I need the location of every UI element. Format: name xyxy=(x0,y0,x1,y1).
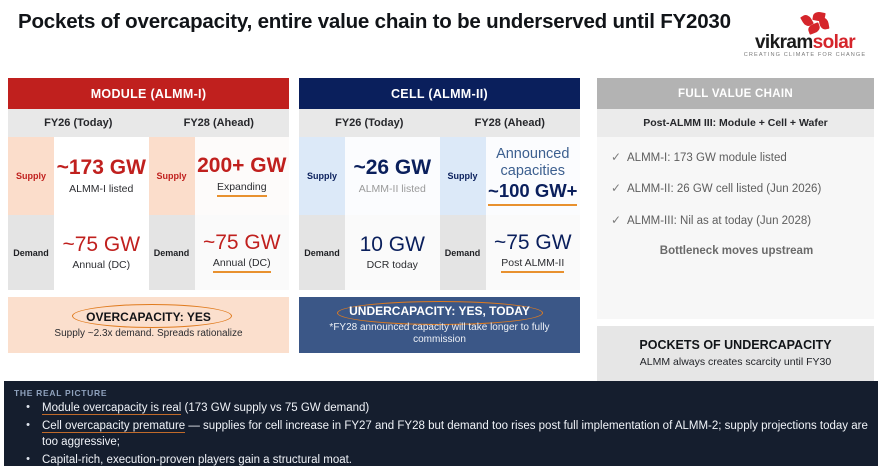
cell-col-fy26-header: FY26 (Today) xyxy=(299,117,440,129)
cell-fy28-supply-value: ~100 GW+ xyxy=(488,180,577,206)
module-fy28-supply-value: 200+ GW xyxy=(197,155,286,177)
cell-fy26-supply-value: ~26 GW xyxy=(353,157,431,179)
fvc-verdict-box: POCKETS OF UNDERCAPACITY ALMM always cre… xyxy=(597,326,874,382)
module-fy28-demand-note: Annual (DC) xyxy=(213,257,271,273)
cell-fy26-demand-value-cell: 10 GW DCR today xyxy=(345,215,440,290)
module-fy26-demand-value: ~75 GW xyxy=(62,234,140,256)
bullet-icon: • xyxy=(14,418,42,434)
pinwheel-icon xyxy=(800,12,830,34)
module-fy28-supply-row: Supply 200+ GW Expanding xyxy=(149,137,290,215)
fvc-item-text: ALMM-III: Nil as at today (Jun 2028) xyxy=(627,214,811,228)
bottom-section-label: THE REAL PICTURE xyxy=(14,388,868,398)
cell-fy26-supply-note: ALMM-II listed xyxy=(359,183,426,195)
bullet-icon: • xyxy=(14,400,42,416)
fvc-subhead-text: Post-ALMM III: Module + Cell + Wafer xyxy=(597,117,874,129)
fvc-verdict-sub: ALMM always creates scarcity until FY30 xyxy=(640,356,831,369)
module-fy28-demand-row: Demand ~75 GW Annual (DC) xyxy=(149,215,290,290)
cell-fy28-demand-note: Post ALMM-II xyxy=(501,257,564,273)
module-verdict-title: OVERCAPACITY: YES xyxy=(86,310,211,324)
module-fy26-supply-note: ALMM-I listed xyxy=(69,183,133,195)
logo-tagline: CREATING CLIMATE FOR CHANGE xyxy=(742,52,868,58)
module-grid: Supply ~173 GW ALMM-I listed Demand ~75 … xyxy=(8,137,289,290)
module-col-fy26-header: FY26 (Today) xyxy=(8,117,149,129)
module-fy26-column: Supply ~173 GW ALMM-I listed Demand ~75 … xyxy=(8,137,149,290)
page-title: Pockets of overcapacity, entire value ch… xyxy=(18,8,738,35)
panel-cell-header: CELL (ALMM-II) xyxy=(299,78,580,109)
cell-fy26-supply-value-cell: ~26 GW ALMM-II listed xyxy=(345,137,440,215)
cell-fy28-supply-row: Supply Announced capacities ~100 GW+ xyxy=(440,137,581,215)
fvc-note: Bottleneck moves upstream xyxy=(611,245,862,257)
vikram-solar-logo: vikramsolar CREATING CLIMATE FOR CHANGE xyxy=(742,12,868,62)
cell-fy26-supply-label: Supply xyxy=(299,137,345,215)
cell-fy28-supply-value-cell: Announced capacities ~100 GW+ xyxy=(486,137,581,215)
list-item: • Capital-rich, execution-proven players… xyxy=(14,452,868,469)
cell-fy28-column: Supply Announced capacities ~100 GW+ Dem… xyxy=(440,137,581,290)
cell-fy28-supply-line2: capacities xyxy=(501,163,565,179)
cell-verdict-box: UNDERCAPACITY: YES, TODAY *FY28 announce… xyxy=(299,297,580,353)
cell-fy28-supply-label: Supply xyxy=(440,137,486,215)
cell-fy26-demand-value: 10 GW xyxy=(360,234,425,256)
cell-fy28-demand-row: Demand ~75 GW Post ALMM-II xyxy=(440,215,581,290)
cell-fy26-demand-label: Demand xyxy=(299,215,345,290)
panel-full-value-chain: FULL VALUE CHAIN Post-ALMM III: Module +… xyxy=(597,78,874,382)
the-real-picture-bar: THE REAL PICTURE • Module overcapacity i… xyxy=(4,381,878,466)
slide-header: Pockets of overcapacity, entire value ch… xyxy=(0,0,882,72)
module-verdict-box: OVERCAPACITY: YES Supply ~2.3x demand. S… xyxy=(8,297,289,353)
cell-fy28-demand-label: Demand xyxy=(440,215,486,290)
logo-word-vikram: vikram xyxy=(755,32,813,53)
module-fy28-supply-note: Expanding xyxy=(217,181,267,197)
bullet-text: Cell overcapacity premature — supplies f… xyxy=(42,418,868,451)
module-fy26-supply-value-cell: ~173 GW ALMM-I listed xyxy=(54,137,149,215)
module-fy28-supply-value-cell: 200+ GW Expanding xyxy=(195,137,290,215)
module-fy26-demand-label: Demand xyxy=(8,215,54,290)
panel-cell: CELL (ALMM-II) FY26 (Today) FY28 (Ahead)… xyxy=(299,78,580,353)
panel-fvc-header: FULL VALUE CHAIN xyxy=(597,78,874,109)
bullet-highlight: Module overcapacity is real xyxy=(42,402,181,415)
bullet-rest: (173 GW supply vs 75 GW demand) xyxy=(181,402,369,414)
module-fy26-supply-value: ~173 GW xyxy=(57,157,146,179)
module-verdict-sub: Supply ~2.3x demand. Spreads rationalize xyxy=(54,328,242,341)
panel-module-header: MODULE (ALMM-I) xyxy=(8,78,289,109)
module-fy26-demand-value-cell: ~75 GW Annual (DC) xyxy=(54,215,149,290)
module-fy26-demand-row: Demand ~75 GW Annual (DC) xyxy=(8,215,149,290)
module-fy28-column: Supply 200+ GW Expanding Demand ~75 GW A… xyxy=(149,137,290,290)
cell-fy26-supply-row: Supply ~26 GW ALMM-II listed xyxy=(299,137,440,215)
fvc-verdict-title: POCKETS OF UNDERCAPACITY xyxy=(639,338,831,352)
logo-word-solar: solar xyxy=(813,32,855,53)
panel-module-subhead: FY26 (Today) FY28 (Ahead) xyxy=(8,109,289,137)
module-fy26-demand-note: Annual (DC) xyxy=(72,259,130,271)
fvc-item-text: ALMM-II: 26 GW cell listed (Jun 2026) xyxy=(627,182,821,196)
list-item: ✓ ALMM-II: 26 GW cell listed (Jun 2026) xyxy=(611,182,862,196)
list-item: • Module overcapacity is real (173 GW su… xyxy=(14,400,868,417)
cell-fy28-demand-value: ~75 GW xyxy=(494,232,572,254)
panel-fvc-subhead: Post-ALMM III: Module + Cell + Wafer xyxy=(597,109,874,137)
logo-wordmark: vikramsolar xyxy=(742,32,868,54)
cell-grid: Supply ~26 GW ALMM-II listed Demand 10 G… xyxy=(299,137,580,290)
cell-fy26-column: Supply ~26 GW ALMM-II listed Demand 10 G… xyxy=(299,137,440,290)
panel-module: MODULE (ALMM-I) FY26 (Today) FY28 (Ahead… xyxy=(8,78,289,353)
cell-fy26-demand-note: DCR today xyxy=(367,259,418,271)
cell-fy28-demand-value-cell: ~75 GW Post ALMM-II xyxy=(486,215,581,290)
module-col-fy28-header: FY28 (Ahead) xyxy=(149,117,290,129)
module-fy28-demand-value-cell: ~75 GW Annual (DC) xyxy=(195,215,290,290)
fvc-body: ✓ ALMM-I: 173 GW module listed ✓ ALMM-II… xyxy=(597,137,874,319)
module-fy26-supply-row: Supply ~173 GW ALMM-I listed xyxy=(8,137,149,215)
cell-verdict-sub: *FY28 announced capacity will take longe… xyxy=(307,322,572,347)
module-fy26-supply-label: Supply xyxy=(8,137,54,215)
cell-col-fy28-header: FY28 (Ahead) xyxy=(440,117,581,129)
slide-root: Pockets of overcapacity, entire value ch… xyxy=(0,0,882,470)
list-item: ✓ ALMM-I: 173 GW module listed xyxy=(611,151,862,165)
bullet-icon: • xyxy=(14,452,42,468)
list-item: • Cell overcapacity premature — supplies… xyxy=(14,418,868,451)
bullet-text: Capital-rich, execution-proven players g… xyxy=(42,452,352,469)
cell-verdict-title: UNDERCAPACITY: YES, TODAY xyxy=(349,304,530,318)
module-fy28-supply-label: Supply xyxy=(149,137,195,215)
module-fy28-demand-value: ~75 GW xyxy=(203,232,281,254)
cell-fy28-supply-line1: Announced xyxy=(496,146,569,162)
fvc-item-text: ALMM-I: 173 GW module listed xyxy=(627,151,787,165)
check-icon: ✓ xyxy=(611,214,627,227)
bullet-highlight: Cell overcapacity premature xyxy=(42,420,185,433)
check-icon: ✓ xyxy=(611,151,627,164)
list-item: ✓ ALMM-III: Nil as at today (Jun 2028) xyxy=(611,214,862,228)
panel-cell-subhead: FY26 (Today) FY28 (Ahead) xyxy=(299,109,580,137)
module-fy28-demand-label: Demand xyxy=(149,215,195,290)
bullet-text: Module overcapacity is real (173 GW supp… xyxy=(42,400,369,417)
cell-fy26-demand-row: Demand 10 GW DCR today xyxy=(299,215,440,290)
check-icon: ✓ xyxy=(611,182,627,195)
